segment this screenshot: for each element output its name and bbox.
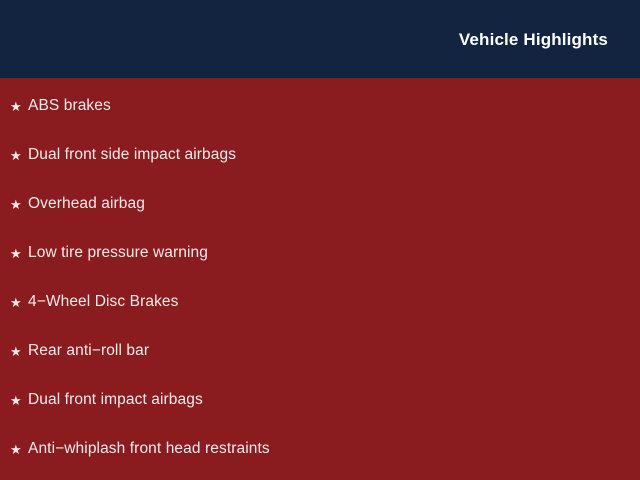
list-item: ★ 4−Wheel Disc Brakes <box>10 291 179 313</box>
star-bullet-icon: ★ <box>10 296 28 309</box>
header-band: Vehicle Highlights <box>0 0 640 78</box>
list-item-label: Low tire pressure warning <box>28 245 208 261</box>
star-bullet-icon: ★ <box>10 198 28 211</box>
list-item: ★ Overhead airbag <box>10 193 145 215</box>
list-item: ★ ABS brakes <box>10 95 111 117</box>
list-item: ★ Low tire pressure warning <box>10 242 208 264</box>
page-title: Vehicle Highlights <box>459 31 640 48</box>
star-bullet-icon: ★ <box>10 443 28 456</box>
list-item: ★ Dual front side impact airbags <box>10 144 236 166</box>
list-item: ★ Dual front impact airbags <box>10 389 203 411</box>
star-bullet-icon: ★ <box>10 149 28 162</box>
list-item-label: Rear anti−roll bar <box>28 343 149 359</box>
list-item-label: Overhead airbag <box>28 196 145 212</box>
star-bullet-icon: ★ <box>10 100 28 113</box>
star-bullet-icon: ★ <box>10 345 28 358</box>
vehicle-highlights-slide: Vehicle Highlights ★ ABS brakes ★ Dual f… <box>0 0 640 480</box>
list-item-label: Dual front impact airbags <box>28 392 203 408</box>
list-item-label: 4−Wheel Disc Brakes <box>28 294 179 310</box>
list-item: ★ Rear anti−roll bar <box>10 340 149 362</box>
highlights-panel: ★ ABS brakes ★ Dual front side impact ai… <box>0 78 640 480</box>
list-item-label: Anti−whiplash front head restraints <box>28 441 270 457</box>
star-bullet-icon: ★ <box>10 247 28 260</box>
list-item: ★ Anti−whiplash front head restraints <box>10 438 270 460</box>
list-item-label: ABS brakes <box>28 98 111 114</box>
list-item-label: Dual front side impact airbags <box>28 147 236 163</box>
star-bullet-icon: ★ <box>10 394 28 407</box>
